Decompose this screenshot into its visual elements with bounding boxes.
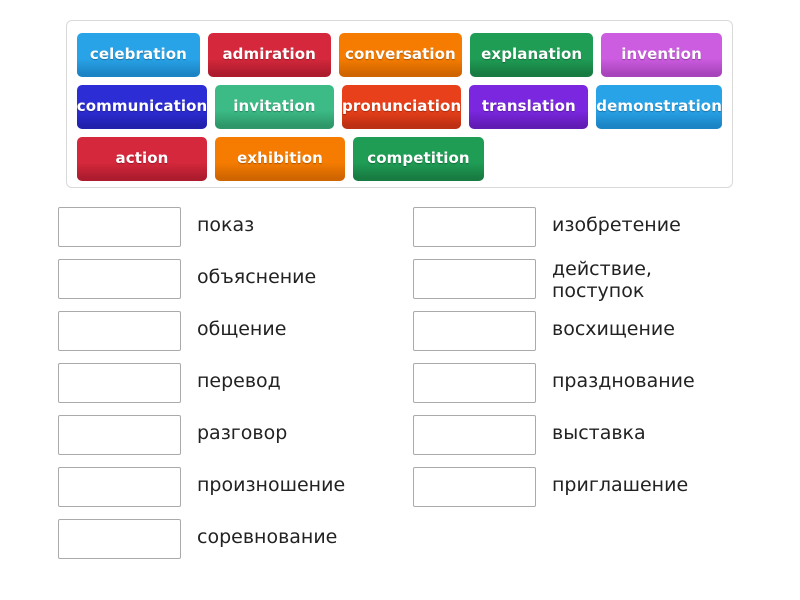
answer-row: показ bbox=[58, 200, 398, 252]
word-tile-demonstration[interactable]: demonstration bbox=[596, 85, 722, 129]
drop-target-box[interactable] bbox=[413, 311, 536, 351]
answer-row: восхищение bbox=[413, 304, 753, 356]
word-tile-exhibition[interactable]: exhibition bbox=[215, 137, 345, 181]
word-tile-label: conversation bbox=[345, 45, 456, 63]
drop-target-box[interactable] bbox=[413, 415, 536, 455]
answer-row: приглашение bbox=[413, 460, 753, 512]
answer-row: объяснение bbox=[58, 252, 398, 304]
answer-label: произношение bbox=[197, 460, 345, 496]
answer-label: восхищение bbox=[552, 304, 675, 340]
drop-target-box[interactable] bbox=[413, 259, 536, 299]
word-tile-invention[interactable]: invention bbox=[601, 33, 722, 77]
drop-target-box[interactable] bbox=[58, 467, 181, 507]
answer-label: перевод bbox=[197, 356, 281, 392]
drop-target-box[interactable] bbox=[58, 363, 181, 403]
word-tile-label: translation bbox=[482, 97, 576, 115]
word-tile-label: invention bbox=[621, 45, 702, 63]
answer-row: общение bbox=[58, 304, 398, 356]
answer-row: произношение bbox=[58, 460, 398, 512]
answer-row: перевод bbox=[58, 356, 398, 408]
answer-row: празднование bbox=[413, 356, 753, 408]
tile-row: actionexhibitioncompetition bbox=[73, 133, 726, 185]
word-tile-celebration[interactable]: celebration bbox=[77, 33, 200, 77]
answer-row: выставка bbox=[413, 408, 753, 460]
tile-row: communicationinvitationpronunciationtran… bbox=[73, 81, 726, 133]
answer-row: разговор bbox=[58, 408, 398, 460]
word-tile-explanation[interactable]: explanation bbox=[470, 33, 593, 77]
drop-target-box[interactable] bbox=[413, 467, 536, 507]
word-tile-label: exhibition bbox=[237, 149, 323, 167]
drop-target-box[interactable] bbox=[58, 519, 181, 559]
word-tile-label: invitation bbox=[233, 97, 315, 115]
word-tile-conversation[interactable]: conversation bbox=[339, 33, 463, 77]
drop-target-box[interactable] bbox=[58, 259, 181, 299]
word-tile-action[interactable]: action bbox=[77, 137, 207, 181]
answer-label: действие, поступок bbox=[552, 252, 652, 302]
word-tile-pronunciation[interactable]: pronunciation bbox=[342, 85, 462, 129]
word-tile-label: celebration bbox=[90, 45, 187, 63]
word-tile-communication[interactable]: communication bbox=[77, 85, 207, 129]
answer-label: приглашение bbox=[552, 460, 688, 496]
answer-label: празднование bbox=[552, 356, 695, 392]
word-tile-label: pronunciation bbox=[342, 97, 461, 115]
word-tile-competition[interactable]: competition bbox=[353, 137, 484, 181]
answer-label: объяснение bbox=[197, 252, 316, 288]
word-tile-label: demonstration bbox=[596, 97, 722, 115]
word-bank-panel: celebrationadmirationconversationexplana… bbox=[66, 20, 733, 188]
answer-label: изобретение bbox=[552, 200, 681, 236]
answer-row: действие, поступок bbox=[413, 252, 753, 304]
answers-left-column: показобъяснениеобщениепереводразговорпро… bbox=[58, 200, 398, 564]
word-tile-translation[interactable]: translation bbox=[469, 85, 588, 129]
answer-label: выставка bbox=[552, 408, 646, 444]
word-tile-label: communication bbox=[77, 97, 208, 115]
drop-target-box[interactable] bbox=[413, 207, 536, 247]
tile-row: celebrationadmirationconversationexplana… bbox=[73, 29, 726, 81]
answer-row: соревнование bbox=[58, 512, 398, 564]
word-tile-admiration[interactable]: admiration bbox=[208, 33, 331, 77]
answer-row: изобретение bbox=[413, 200, 753, 252]
word-tile-label: explanation bbox=[481, 45, 582, 63]
drop-target-box[interactable] bbox=[413, 363, 536, 403]
word-tile-label: competition bbox=[367, 149, 469, 167]
word-tile-label: action bbox=[116, 149, 169, 167]
drop-target-box[interactable] bbox=[58, 207, 181, 247]
answer-label: соревнование bbox=[197, 512, 337, 548]
answer-label: разговор bbox=[197, 408, 287, 444]
drop-target-box[interactable] bbox=[58, 415, 181, 455]
drop-target-box[interactable] bbox=[58, 311, 181, 351]
answer-label: показ bbox=[197, 200, 254, 236]
answer-label: общение bbox=[197, 304, 286, 340]
word-tile-label: admiration bbox=[222, 45, 315, 63]
answers-right-column: изобретениедействие, поступоквосхищениеп… bbox=[413, 200, 753, 512]
word-tile-invitation[interactable]: invitation bbox=[215, 85, 334, 129]
